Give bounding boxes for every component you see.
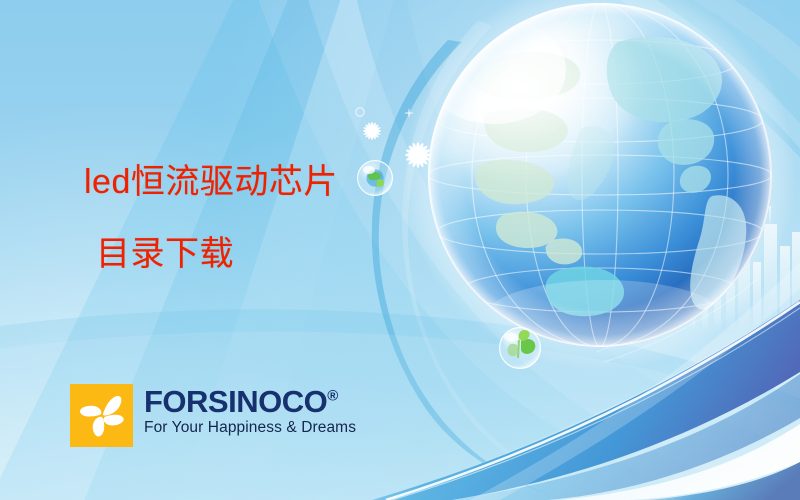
title-line-1: led恒流驱动芯片 [84, 160, 504, 204]
four-petal-pinwheel-icon [70, 384, 133, 447]
title-line-2: 目录下载 [84, 232, 504, 276]
company-logo: FORSINOCO® For Your Happiness & Dreams [70, 384, 356, 447]
slide-canvas: led恒流驱动芯片 目录下载 FORSINOCO® For Your Happi… [0, 0, 800, 500]
page-title: led恒流驱动芯片 目录下载 [84, 160, 504, 276]
logo-wordmark-text: FORSINOCO [144, 384, 327, 419]
logo-wordmark: FORSINOCO® [144, 386, 356, 418]
registered-trademark-symbol: ® [327, 388, 338, 405]
logo-tagline: For Your Happiness & Dreams [144, 419, 356, 438]
logo-text-block: FORSINOCO® For Your Happiness & Dreams [144, 384, 356, 437]
